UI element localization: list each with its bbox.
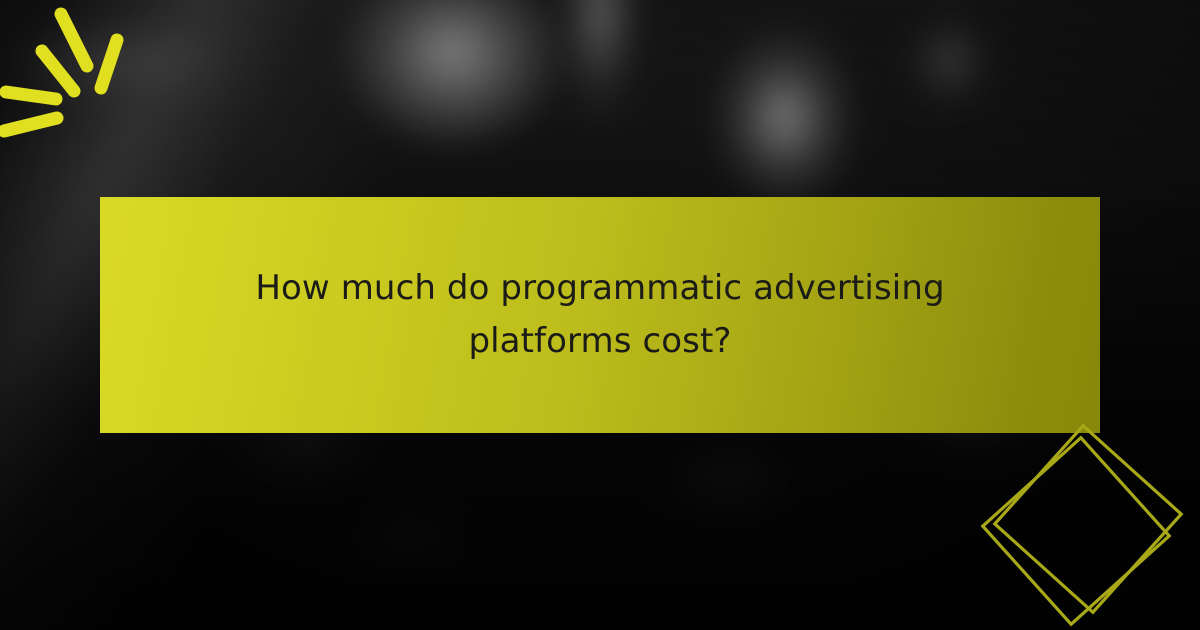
page-title: How much do programmatic advertising pla… — [250, 262, 950, 368]
poster-canvas: How much do programmatic advertising pla… — [0, 0, 1200, 630]
headline-banner: How much do programmatic advertising pla… — [100, 197, 1100, 433]
sparkle-burst-icon — [0, 0, 200, 180]
rotated-squares-icon — [970, 415, 1200, 630]
